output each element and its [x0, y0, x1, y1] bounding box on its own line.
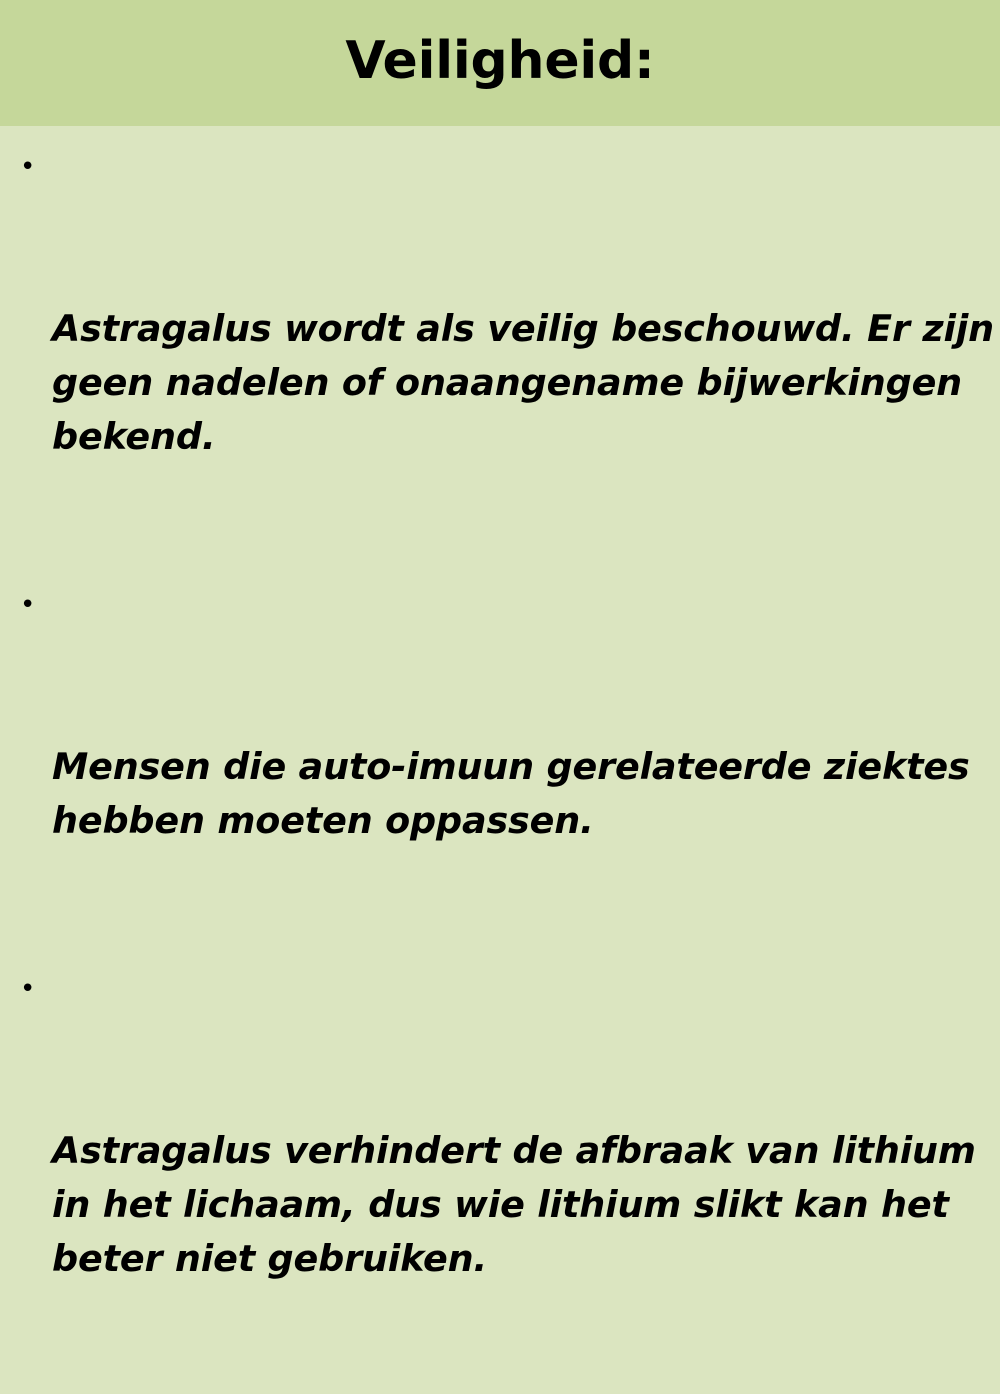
page-title: Veiligheid: — [345, 34, 654, 93]
bullet-point-icon: • — [20, 140, 38, 194]
list-item: • Astragalus verhindert de afbraak van l… — [6, 962, 994, 1394]
list-item-text: Astragalus verhindert de afbraak van lit… — [52, 1124, 994, 1286]
list-item-text: Mensen die auto-imuun gerelateerde ziekt… — [52, 740, 994, 848]
list-item: • Astragalus wordt als veilig beschouwd.… — [6, 140, 994, 572]
bullet-list: • Astragalus wordt als veilig beschouwd.… — [6, 140, 994, 1394]
slide-body: • Astragalus wordt als veilig beschouwd.… — [0, 126, 1000, 750]
list-item: • Mensen die auto-imuun gerelateerde zie… — [6, 578, 994, 956]
bullet-point-icon: • — [20, 578, 38, 632]
list-item-text: Astragalus wordt als veilig beschouwd. E… — [52, 302, 994, 464]
title-band: Veiligheid: — [0, 0, 1000, 126]
bullet-point-icon: • — [20, 962, 38, 1016]
slide: Veiligheid: • Astragalus wordt als veili… — [0, 0, 1000, 750]
